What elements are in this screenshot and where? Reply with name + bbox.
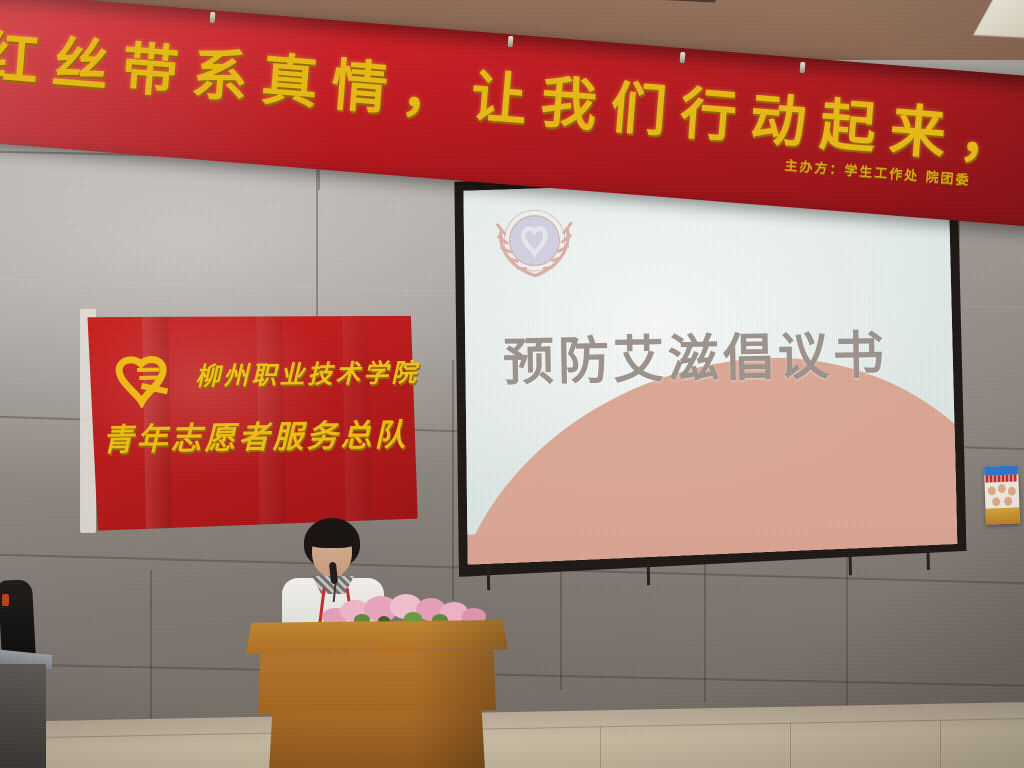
podium-base (268, 710, 486, 768)
banner-hook (800, 62, 806, 73)
bag-tag (2, 594, 9, 606)
wall-seam (0, 663, 1024, 686)
banner-hook (210, 12, 216, 23)
projection-screen: 预防艾滋倡议书 (451, 163, 967, 577)
podium-top (246, 620, 508, 654)
wall-poster (984, 465, 1020, 524)
wooden-podium (246, 620, 508, 768)
wall-seam (452, 360, 454, 600)
side-table (0, 652, 52, 768)
volunteer-corps-flag: 柳州职业技术学院 青年志愿者服务总队 (84, 307, 418, 531)
poster-footer-band (985, 507, 1020, 524)
heart-hand-volunteer-icon (115, 353, 186, 408)
speaker-fringe (305, 526, 359, 548)
flag-line-1: 柳州职业技术学院 (195, 353, 420, 393)
table-body (0, 664, 46, 768)
slide-title: 预防艾滋倡议书 (502, 313, 888, 394)
podium-body (258, 650, 496, 714)
banner-hook (508, 36, 514, 47)
screen-surface: 预防艾滋倡议书 (460, 175, 957, 564)
poster-title-text (985, 474, 1017, 482)
flag-line-2: 青年志愿者服务总队 (102, 409, 409, 459)
photo-scene: 柳州职业技术学院 青年志愿者服务总队 预防艾滋倡议书 (0, 0, 1024, 768)
laurel-heart-emblem-icon (488, 198, 582, 292)
banner-hook (680, 52, 686, 63)
